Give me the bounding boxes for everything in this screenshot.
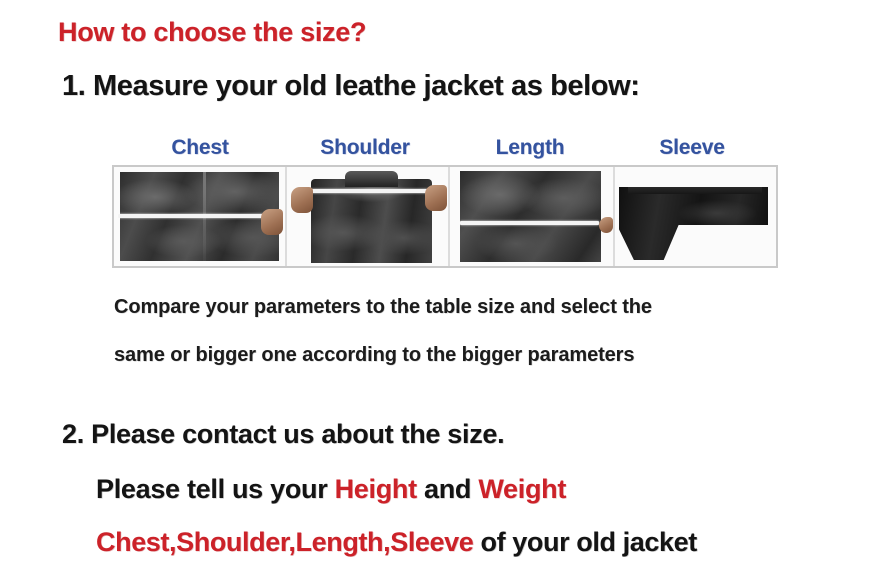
tape-measure-length-icon: [460, 221, 599, 225]
height-weight-prefix: Please tell us your: [96, 474, 335, 504]
measurement-labels: Chest Shoulder Length Sleeve: [112, 136, 778, 164]
jacket-length-photo-icon: [460, 171, 601, 262]
jacket-sleeve-photo-icon: [619, 187, 768, 260]
highlight-measurements: Chest,Shoulder,Length,Sleeve: [96, 527, 473, 557]
page-title: How to choose the size?: [58, 17, 366, 48]
measure-label-chest: Chest: [171, 136, 228, 160]
step-2-instruction: 2. Please contact us about the size.: [62, 419, 504, 450]
step-1-instruction: 1. Measure your old leathe jacket as bel…: [62, 70, 640, 103]
note-line-1: Compare your parameters to the table siz…: [114, 296, 652, 319]
tape-measure-shoulder-icon: [309, 189, 428, 193]
panel-chest: [114, 167, 287, 266]
height-weight-middle: and: [417, 474, 479, 504]
height-weight-line: Please tell us your Height and Weight: [96, 474, 566, 505]
measure-label-length: Length: [496, 136, 565, 160]
measurement-photo-strip: [112, 165, 778, 268]
measure-label-shoulder: Shoulder: [320, 136, 409, 160]
note-line-2: same or bigger one according to the bigg…: [114, 344, 634, 367]
size-guide-page: How to choose the size? 1. Measure your …: [0, 0, 872, 586]
panel-shoulder: [287, 167, 450, 266]
hand-icon: [261, 209, 283, 235]
highlight-weight: Weight: [478, 474, 566, 504]
measure-label-sleeve: Sleeve: [659, 136, 724, 160]
highlight-height: Height: [335, 474, 417, 504]
tape-measure-chest-icon: [118, 214, 267, 218]
panel-sleeve: [615, 167, 776, 266]
hand-icon: [425, 185, 447, 211]
panel-length: [450, 167, 615, 266]
hand-icon: [291, 187, 313, 213]
measurements-suffix: of your old jacket: [473, 527, 696, 557]
hand-icon: [599, 217, 613, 233]
measurements-line: Chest,Shoulder,Length,Sleeve of your old…: [96, 527, 697, 558]
